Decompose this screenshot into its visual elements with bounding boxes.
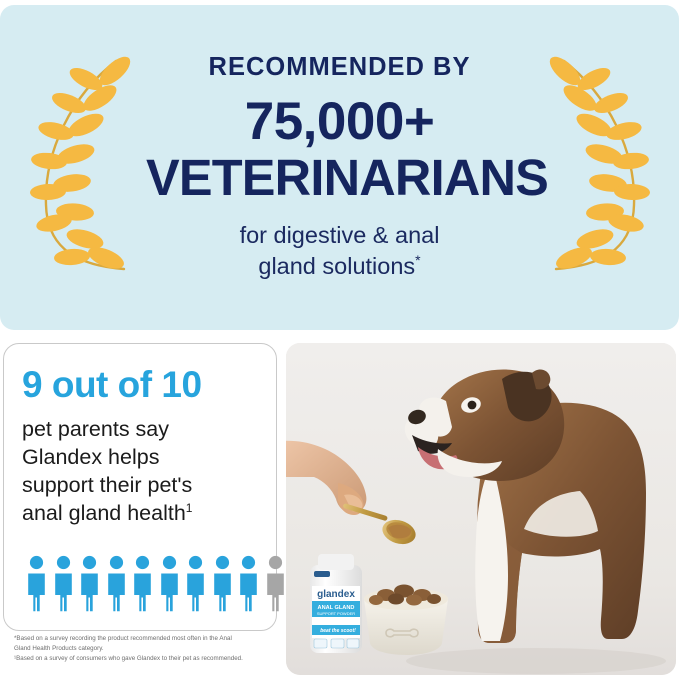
- recommended-by-banner: RECOMMENDED BY 75,000+ VETERINARIANS for…: [0, 5, 679, 330]
- banner-text-block: RECOMMENDED BY 75,000+ VETERINARIANS for…: [140, 53, 540, 282]
- stat-body-line3: support their pet's: [22, 473, 192, 497]
- person-figure-icon: [52, 555, 75, 612]
- pictogram-row: [25, 555, 287, 612]
- banner-count: 75,000+: [144, 92, 536, 151]
- person-figure-icon: [105, 555, 128, 612]
- banner-subtitle-marker: *: [415, 252, 420, 268]
- footnote-line-2: Gland Health Products category.: [14, 644, 282, 654]
- stat-body-marker: 1: [186, 501, 193, 515]
- stat-card: 9 out of 10 pet parents say Glandex help…: [3, 343, 277, 631]
- person-figure-icon: [78, 555, 101, 612]
- svg-text:beat the scoot!: beat the scoot!: [320, 628, 356, 634]
- person-figure-icon-muted: [264, 555, 287, 612]
- banner-subtitle: for digestive & anal gland solutions*: [144, 220, 536, 282]
- banner-subtitle-line1: for digestive & anal: [240, 222, 440, 248]
- laurel-wreath-icon: [20, 55, 140, 280]
- product-photo: glandex ANAL GLAND SUPPORT POWDER beat t…: [286, 343, 676, 675]
- footnotes: *Based on a survey recording the product…: [14, 634, 282, 664]
- person-figure-icon: [131, 555, 154, 612]
- stat-headline: 9 out of 10: [22, 366, 260, 403]
- stat-body: pet parents say Glandex helps support th…: [22, 416, 260, 528]
- person-figure-icon: [25, 555, 48, 612]
- stat-body-line4: anal gland health: [22, 501, 186, 525]
- laurel-wreath-icon: [540, 55, 660, 280]
- stat-body-line1: pet parents say: [22, 417, 169, 441]
- footnote-line-1: *Based on a survey recording the product…: [14, 634, 282, 644]
- svg-text:glandex: glandex: [317, 589, 355, 600]
- person-figure-icon: [237, 555, 260, 612]
- banner-subtitle-line2: gland solutions: [258, 253, 415, 279]
- svg-text:SUPPORT POWDER: SUPPORT POWDER: [317, 611, 355, 616]
- person-figure-icon: [211, 555, 234, 612]
- dog-food-bowl: [364, 585, 448, 656]
- footnote-line-3: ¹Based on a survey of consumers who gave…: [14, 654, 282, 664]
- person-figure-icon: [158, 555, 181, 612]
- banner-audience: VETERINARIANS: [145, 151, 533, 204]
- banner-content: RECOMMENDED BY 75,000+ VETERINARIANS for…: [0, 5, 679, 330]
- glandex-bottle: glandex ANAL GLAND SUPPORT POWDER beat t…: [310, 554, 362, 653]
- stat-body-line2: Glandex helps: [22, 445, 159, 469]
- banner-kicker: RECOMMENDED BY: [144, 53, 536, 81]
- infographic-page: RECOMMENDED BY 75,000+ VETERINARIANS for…: [0, 0, 679, 678]
- person-figure-icon: [184, 555, 207, 612]
